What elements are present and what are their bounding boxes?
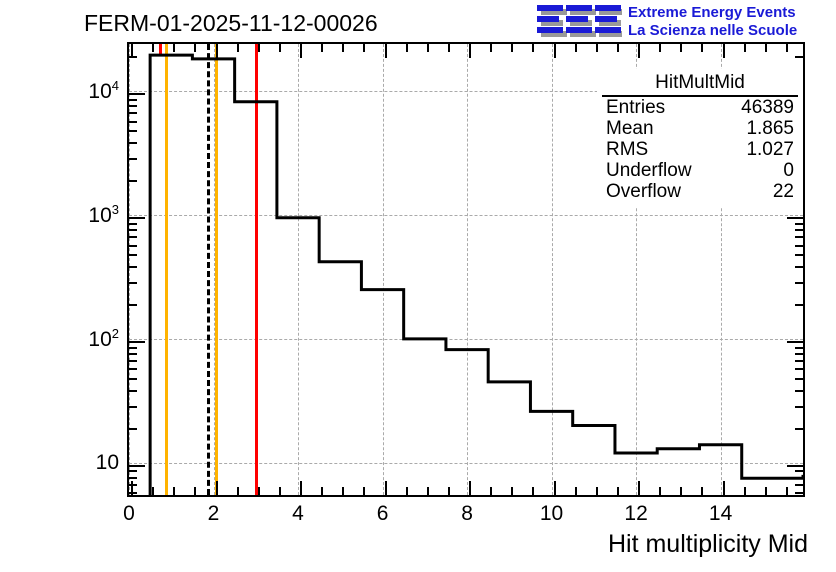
axis-tick xyxy=(194,44,196,52)
stats-key: Underflow xyxy=(606,160,692,181)
stats-value: 1.027 xyxy=(746,139,794,160)
axis-tick xyxy=(129,130,137,132)
axis-tick xyxy=(511,44,513,52)
axis-tick xyxy=(795,477,803,479)
axis-tick xyxy=(385,481,387,495)
y-tick-label: 102 xyxy=(88,326,119,352)
stats-title: HitMultMid xyxy=(602,70,798,97)
page-title: FERM-01-2025-11-12-00026 xyxy=(84,10,378,37)
stats-key: Entries xyxy=(606,97,665,118)
axis-tick xyxy=(795,282,803,284)
axis-tick xyxy=(638,44,640,58)
axis-tick xyxy=(129,93,145,95)
axis-tick xyxy=(385,44,387,58)
x-tick-label: 6 xyxy=(377,502,389,526)
axis-tick xyxy=(795,378,803,380)
x-tick-label: 2 xyxy=(208,502,220,526)
x-tick-label: 12 xyxy=(624,502,647,526)
axis-tick xyxy=(363,44,365,52)
y-tick-label: 104 xyxy=(88,78,119,104)
axis-tick xyxy=(723,481,725,495)
stats-key: RMS xyxy=(606,139,648,160)
axis-tick xyxy=(321,44,323,52)
axis-tick xyxy=(795,254,803,256)
stats-value: 0 xyxy=(783,160,794,181)
axis-tick xyxy=(129,99,137,101)
axis-tick xyxy=(469,44,471,58)
axis-tick xyxy=(596,44,598,52)
axis-tick xyxy=(795,390,803,392)
x-tick-label: 10 xyxy=(540,502,563,526)
axis-tick xyxy=(129,477,137,479)
axis-tick xyxy=(342,487,344,495)
stats-row: Underflow0 xyxy=(598,160,802,181)
axis-tick xyxy=(406,487,408,495)
axis-tick xyxy=(680,44,682,52)
axis-tick xyxy=(129,229,137,231)
axis-tick xyxy=(129,121,137,123)
axis-tick xyxy=(448,44,450,52)
axis-tick xyxy=(795,304,803,306)
axis-tick xyxy=(787,465,803,467)
axis-tick xyxy=(173,487,175,495)
axis-tick xyxy=(129,223,137,225)
axis-tick xyxy=(129,245,137,247)
x-tick-label: 8 xyxy=(461,502,473,526)
axis-tick xyxy=(795,492,803,494)
axis-tick xyxy=(129,406,137,408)
x-axis-title: Hit multiplicity Mid xyxy=(608,530,808,559)
axis-tick xyxy=(129,360,137,362)
axis-tick xyxy=(129,142,137,144)
axis-tick xyxy=(216,481,218,495)
axis-tick xyxy=(237,487,239,495)
axis-tick xyxy=(129,112,137,114)
axis-tick xyxy=(680,487,682,495)
axis-tick xyxy=(129,180,137,182)
axis-tick xyxy=(532,44,534,52)
axis-tick xyxy=(216,44,218,58)
stats-rows: Entries46389Mean1.865RMS1.027Underflow0O… xyxy=(598,97,802,202)
stats-row: Overflow22 xyxy=(598,181,802,202)
stats-value: 22 xyxy=(773,181,794,202)
axis-tick xyxy=(427,44,429,52)
stats-key: Overflow xyxy=(606,181,681,202)
axis-tick xyxy=(129,470,137,472)
axis-tick xyxy=(532,487,534,495)
axis-tick xyxy=(787,217,803,219)
axis-tick xyxy=(575,487,577,495)
axis-tick xyxy=(617,44,619,52)
axis-tick xyxy=(511,487,513,495)
axis-tick xyxy=(152,487,154,495)
stats-row: Entries46389 xyxy=(598,97,802,118)
axis-tick xyxy=(258,44,260,52)
axis-tick xyxy=(300,44,302,58)
y-tick-label: 10 xyxy=(96,451,119,475)
axis-tick xyxy=(406,44,408,52)
logo-line-1: Extreme Energy Events xyxy=(628,4,796,21)
axis-tick xyxy=(237,44,239,52)
eee-logo-mark-icon xyxy=(536,4,622,40)
axis-tick xyxy=(744,487,746,495)
axis-tick xyxy=(129,347,137,349)
axis-tick xyxy=(129,492,137,494)
axis-tick xyxy=(300,481,302,495)
axis-tick xyxy=(129,465,145,467)
axis-tick xyxy=(786,487,788,495)
axis-tick xyxy=(765,487,767,495)
axis-tick xyxy=(795,368,803,370)
axis-tick xyxy=(554,481,556,495)
x-tick-label: 0 xyxy=(123,502,135,526)
axis-tick xyxy=(638,481,640,495)
axis-tick xyxy=(129,390,137,392)
axis-tick xyxy=(469,481,471,495)
axis-tick xyxy=(744,44,746,52)
axis-tick xyxy=(795,428,803,430)
axis-tick xyxy=(795,229,803,231)
axis-tick xyxy=(701,44,703,52)
stats-row: Mean1.865 xyxy=(598,118,802,139)
axis-tick xyxy=(363,487,365,495)
axis-tick xyxy=(786,44,788,52)
axis-tick xyxy=(173,44,175,52)
axis-tick xyxy=(129,56,137,58)
axis-tick xyxy=(129,266,137,268)
axis-tick xyxy=(129,484,137,486)
axis-tick xyxy=(258,487,260,495)
stats-box[interactable]: HitMultMid Entries46389Mean1.865RMS1.027… xyxy=(597,69,803,207)
axis-tick xyxy=(701,487,703,495)
x-tick-label: 4 xyxy=(292,502,304,526)
axis-tick xyxy=(659,487,661,495)
axis-tick xyxy=(765,44,767,52)
axis-tick xyxy=(321,487,323,495)
axis-tick xyxy=(795,406,803,408)
axis-tick xyxy=(129,254,137,256)
axis-tick xyxy=(490,487,492,495)
axis-tick xyxy=(787,341,803,343)
axis-tick xyxy=(129,368,137,370)
axis-tick xyxy=(152,44,154,52)
axis-tick xyxy=(795,56,803,58)
axis-tick xyxy=(129,282,137,284)
root-canvas: FERM-01-2025-11-12-00026 xyxy=(0,0,836,572)
stats-value: 46389 xyxy=(741,97,794,118)
axis-tick xyxy=(194,487,196,495)
axis-tick xyxy=(795,470,803,472)
axis-tick xyxy=(795,353,803,355)
axis-tick xyxy=(129,217,145,219)
stats-key: Mean xyxy=(606,118,654,139)
y-tick-label: 103 xyxy=(88,202,119,228)
stats-row: RMS1.027 xyxy=(598,139,802,160)
logo-line-2: La Scienza nelle Scuole xyxy=(628,22,797,39)
axis-tick xyxy=(490,44,492,52)
axis-tick xyxy=(129,105,137,107)
axis-tick xyxy=(795,360,803,362)
axis-tick xyxy=(279,44,281,52)
axis-tick xyxy=(659,44,661,52)
axis-tick xyxy=(617,487,619,495)
stats-value: 1.865 xyxy=(746,118,794,139)
axis-tick xyxy=(129,378,137,380)
axis-tick xyxy=(795,236,803,238)
axis-tick xyxy=(129,428,137,430)
axis-tick xyxy=(795,266,803,268)
axis-tick xyxy=(342,44,344,52)
axis-tick xyxy=(129,158,137,160)
axis-tick xyxy=(129,304,137,306)
axis-tick xyxy=(795,347,803,349)
axis-tick xyxy=(596,487,598,495)
axis-tick xyxy=(129,341,145,343)
axis-tick xyxy=(279,487,281,495)
axis-tick xyxy=(129,353,137,355)
axis-tick xyxy=(448,487,450,495)
axis-tick xyxy=(129,236,137,238)
axis-tick xyxy=(723,44,725,58)
eee-logo: Extreme Energy Events La Scienza nelle S… xyxy=(536,2,836,42)
axis-tick xyxy=(795,484,803,486)
x-tick-label: 14 xyxy=(709,502,732,526)
axis-tick xyxy=(575,44,577,52)
axis-tick xyxy=(554,44,556,58)
axis-tick xyxy=(427,487,429,495)
axis-tick xyxy=(795,245,803,247)
axis-tick xyxy=(795,223,803,225)
